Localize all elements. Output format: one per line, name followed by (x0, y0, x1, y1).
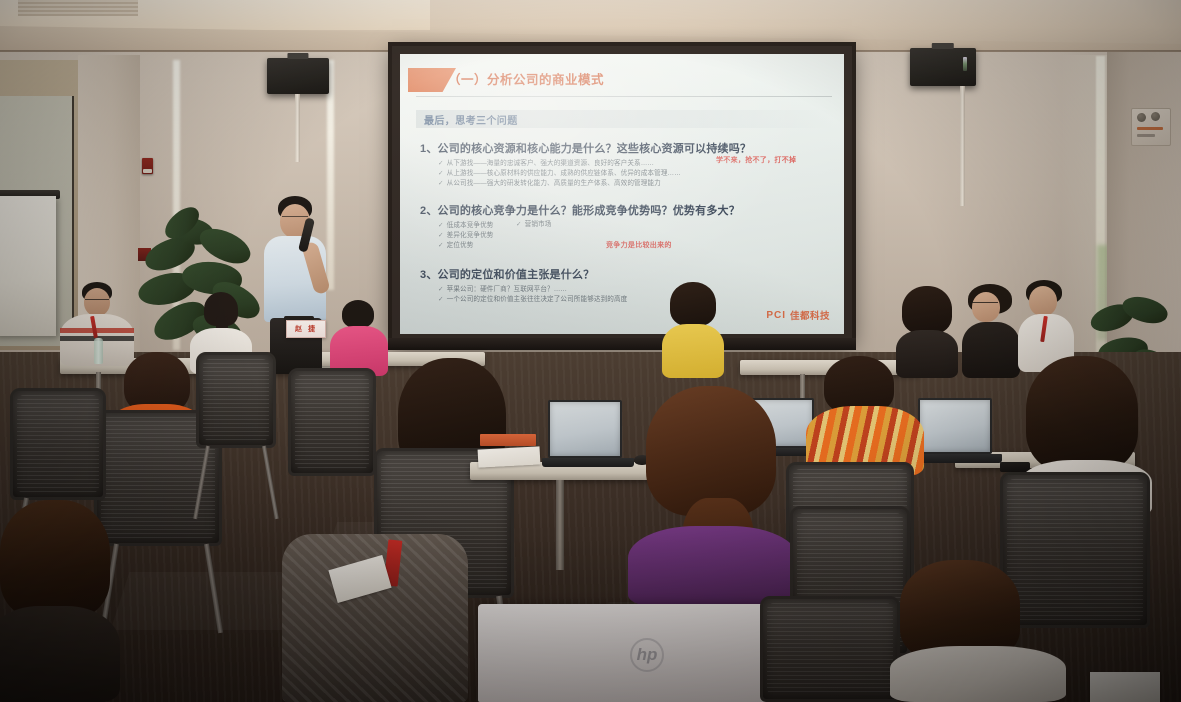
speaker-pole-left (295, 94, 300, 162)
attendee-yellow-top (660, 282, 726, 378)
hair (342, 300, 374, 328)
bullet-text: 定位优势 (447, 242, 474, 249)
attendee-dark-back-right (896, 286, 958, 378)
slide: （一）分析公司的商业模式 最后，思考三个问题 1、公司的核心资源和核心能力是什么… (400, 54, 844, 334)
pci-logo-mark: PCI (766, 310, 786, 321)
slide-subheading: 最后，思考三个问题 (416, 110, 834, 128)
papers (478, 446, 541, 467)
chair-mesh (203, 359, 269, 441)
torso (662, 324, 724, 378)
panel-knob-icon (1137, 113, 1146, 122)
slide-surface: （一）分析公司的商业模式 最后，思考三个问题 1、公司的核心资源和核心能力是什么… (400, 54, 844, 334)
question-1-heading: 1、公司的核心资源和核心能力是什么？这些核心资源可以持续吗？ (420, 140, 834, 156)
pci-logo-cn: 佳都科技 (790, 308, 830, 322)
name-card-text: 赵 捷 (295, 324, 317, 334)
attendee-purple-top (628, 386, 798, 606)
check-icon: ✓ (438, 222, 444, 229)
bullet-item: ✓营销市场 (516, 220, 551, 230)
bullet-text: 从下游找——海量的忠诚客户、强大的渠道资源、良好的客户关系…… (447, 160, 655, 167)
glasses-icon (282, 216, 308, 221)
presenter (262, 196, 334, 374)
chair-mesh (767, 603, 893, 695)
slide-titlebar: （一）分析公司的商业模式 (400, 68, 844, 94)
glasses-icon (85, 299, 109, 303)
question-2-red-note: 竞争力是比较出来的 (606, 240, 672, 250)
bullet-text: 营销市场 (525, 221, 552, 228)
check-icon: ✓ (438, 160, 444, 167)
torso (896, 330, 958, 378)
glasses-icon (972, 302, 998, 306)
wall-speaker-left (267, 58, 329, 94)
hair (1026, 356, 1138, 472)
notebook (480, 434, 536, 446)
panel-indicator-icon (1137, 134, 1155, 137)
slide-title: （一）分析公司的商业模式 (448, 69, 604, 88)
question-1-number: 1、 (420, 143, 438, 155)
check-icon: ✓ (438, 232, 444, 239)
slide-question-2: 2、公司的核心竞争力是什么？能形成竞争优势吗？优势有多大？ ✓低成本竞争优势 ✓… (420, 202, 834, 252)
question-2-number: 2、 (420, 205, 438, 217)
question-3-text: 公司的定位和价值主张是什么？ (438, 269, 595, 281)
chair-back (196, 352, 276, 448)
hp-logo-icon: hp (630, 638, 664, 672)
torso (962, 322, 1020, 378)
bullet-item: ✓一个公司的定位和价值主张往往决定了公司所能够达到的高度 (438, 295, 834, 305)
question-1-text: 公司的核心资源和核心能力是什么？这些核心资源可以持续吗？ (438, 143, 752, 155)
torso (0, 606, 120, 702)
panel-indicator-icon (1137, 127, 1163, 130)
bullet-text: 低成本竞争优势 (447, 222, 494, 229)
question-3-heading: 3、公司的定位和价值主张是什么？ (420, 266, 834, 282)
chair-back (288, 368, 376, 476)
conference-room-photo: 安全出口 🚶 （一）分析公司的商业模式 最后，思考三个问题 1、公司的核心资源和… (0, 0, 1181, 702)
screen-bottom-frame (388, 338, 856, 350)
slide-subheading-text: 最后，思考三个问题 (416, 112, 518, 127)
wall-speaker-right (910, 48, 976, 86)
question-2-text: 公司的核心竞争力是什么？能形成竞争优势吗？优势有多大？ (438, 205, 740, 217)
question-3-bullets: ✓苹果公司：硬件厂商？互联网平台？…… ✓一个公司的定位和价值主张往往决定了公司… (420, 285, 834, 305)
pci-logo: PCI 佳都科技 (766, 308, 830, 322)
table-leg (556, 480, 564, 570)
hair (670, 282, 716, 326)
attendee-pink-top (330, 300, 388, 376)
head (972, 292, 1000, 322)
bullet-text: 从公司找——强大的研发转化能力、高质量的生产体系、高效的管理能力 (447, 180, 661, 187)
chair-mesh (295, 375, 369, 469)
chair-back (10, 388, 106, 500)
bullet-item: ✓从公司找——强大的研发转化能力、高质量的生产体系、高效的管理能力 (438, 179, 834, 189)
speaker-led-icon (963, 57, 967, 71)
question-1-red-note: 学不来，抢不了，打不掉 (716, 155, 796, 165)
papers (1090, 672, 1160, 702)
hair (902, 286, 952, 334)
attendee-front-right (900, 560, 1060, 702)
bullet-text: 从上游找——核心原材料的供应能力、成熟的供应链体系、优异的成本管理…… (447, 170, 681, 177)
hair (646, 386, 776, 516)
question-3-number: 3、 (420, 269, 438, 281)
wall-control-panel[interactable] (1131, 108, 1171, 146)
bullet-text: 一个公司的定位和价值主张往往决定了公司所能够达到的高度 (447, 296, 628, 303)
question-2-heading: 2、公司的核心竞争力是什么？能形成竞争优势吗？优势有多大？ (420, 202, 834, 218)
laptop-screen (548, 400, 622, 458)
laptop-keyboard (912, 454, 1002, 463)
name-card: 赵 捷 (286, 320, 326, 338)
check-icon: ✓ (516, 221, 522, 228)
bullet-item: ✓苹果公司：硬件厂商？互联网平台？…… (438, 285, 834, 295)
bullet-item: ✓从上游找——核心原材料的供应能力、成熟的供应链体系、优异的成本管理…… (438, 169, 834, 179)
check-icon: ✓ (438, 170, 444, 177)
fire-alarm-icon (142, 158, 153, 174)
slide-question-1: 1、公司的核心资源和核心能力是什么？这些核心资源可以持续吗？ ✓从下游找——海量… (420, 140, 834, 190)
hair (0, 500, 110, 618)
head (1029, 286, 1057, 316)
water-bottle (94, 338, 103, 364)
laptop-screen (918, 398, 992, 454)
check-icon: ✓ (438, 286, 444, 293)
hair (900, 560, 1020, 660)
attendee-glasses-right (962, 284, 1020, 378)
ceiling-vent (18, 0, 138, 16)
check-icon: ✓ (438, 180, 444, 187)
speaker-pole-right (960, 86, 965, 206)
bullet-text: 苹果公司：硬件厂商？互联网平台？…… (447, 286, 568, 293)
attendee-patterned-front (282, 534, 468, 702)
flipchart (0, 196, 56, 336)
hp-logo-text: hp (637, 645, 658, 665)
bullet-item: ✓低成本竞争优势 (438, 221, 834, 231)
bullet-text: 差异化竞争优势 (447, 232, 494, 239)
projection-screen: （一）分析公司的商业模式 最后，思考三个问题 1、公司的核心资源和核心能力是什么… (392, 46, 852, 342)
chair-mesh (17, 395, 99, 493)
check-icon: ✓ (438, 296, 444, 303)
slide-divider (416, 96, 832, 97)
panel-knob-icon (1151, 112, 1160, 121)
torso (890, 646, 1066, 702)
slide-question-3: 3、公司的定位和价值主张是什么？ ✓苹果公司：硬件厂商？互联网平台？…… ✓一个… (420, 266, 834, 305)
check-icon: ✓ (438, 242, 444, 249)
attendee-front-left (0, 500, 120, 702)
torso (628, 526, 798, 606)
chair-back (760, 596, 900, 702)
laptop-keyboard (542, 458, 634, 467)
